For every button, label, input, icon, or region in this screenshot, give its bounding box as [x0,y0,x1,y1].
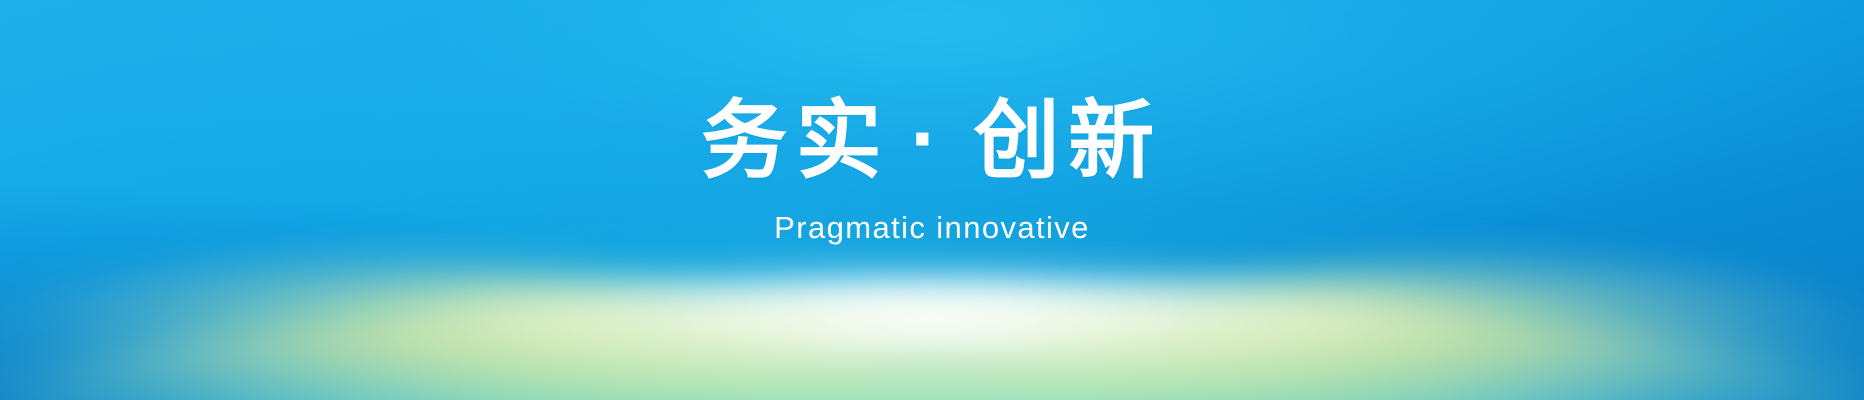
banner-subheadline: Pragmatic innovative [774,212,1090,243]
banner-content: 务实 · 创新 Pragmatic innovative [0,0,1864,400]
banner-headline: 务实 · 创新 [701,98,1163,184]
headline-word-left: 务实 [701,98,890,184]
hero-banner: 务实 · 创新 Pragmatic innovative [0,0,1864,400]
headline-separator-dot: · [910,96,947,182]
headline-word-right: 创新 [974,98,1163,184]
